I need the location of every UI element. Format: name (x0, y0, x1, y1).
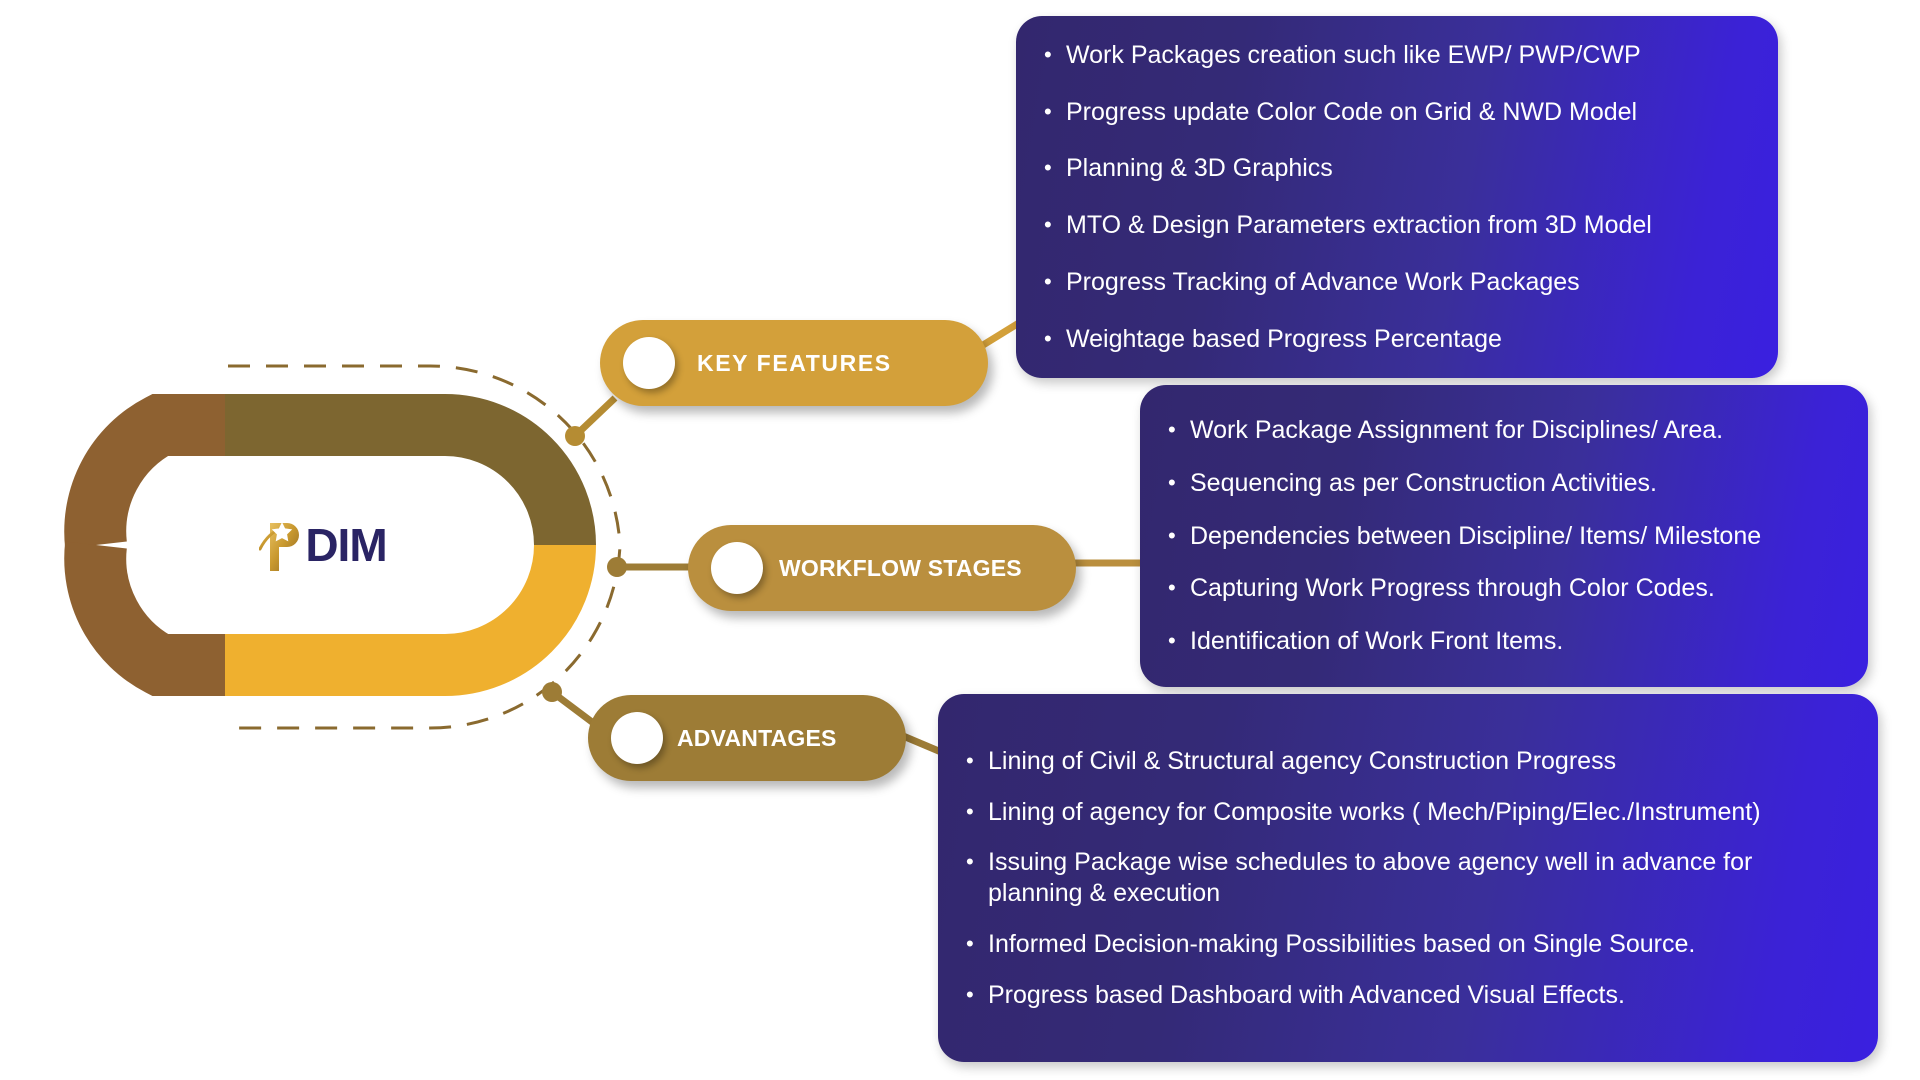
pill-bullet-icon (623, 337, 675, 389)
infographic-canvas: DIM KEY FEATURES WORKFLOW STAGES ADVANTA… (0, 0, 1920, 1080)
pill-label-key-features: KEY FEATURES (697, 350, 892, 377)
bullet-item: •MTO & Design Parameters extraction from… (1044, 210, 1752, 241)
bullet-item-text: Work Packages creation such like EWP/ PW… (1066, 40, 1641, 71)
bullet-point-icon: • (966, 797, 988, 823)
bullet-item: •Progress based Dashboard with Advanced … (966, 980, 1852, 1011)
bullet-item-text: Planning & 3D Graphics (1066, 153, 1333, 184)
bullet-item-text: Dependencies between Discipline/ Items/ … (1190, 521, 1761, 552)
bullet-item-text: Progress Tracking of Advance Work Packag… (1066, 267, 1580, 298)
bullet-item-text: MTO & Design Parameters extraction from … (1066, 210, 1652, 241)
bullet-point-icon: • (1044, 153, 1066, 179)
content-box-key-features: •Work Packages creation such like EWP/ P… (1016, 16, 1778, 378)
bullet-item-text: Work Package Assignment for Disciplines/… (1190, 415, 1723, 446)
bullet-point-icon: • (1168, 415, 1190, 441)
bullet-item: •Informed Decision-making Possibilities … (966, 929, 1852, 960)
bullet-point-icon: • (966, 929, 988, 955)
bullet-item: •Lining of Civil & Structural agency Con… (966, 746, 1852, 777)
ring-segment-top-left (95, 425, 225, 545)
bullet-item-text: Identification of Work Front Items. (1190, 626, 1563, 657)
connector-node-advantages (542, 682, 562, 702)
bullet-item: •Sequencing as per Construction Activiti… (1168, 468, 1842, 499)
bullet-point-icon: • (966, 980, 988, 1006)
branch-pill-workflow-stages[interactable]: WORKFLOW STAGES (688, 525, 1076, 611)
ring-segment-bottom-left (95, 545, 225, 665)
bullet-item-text: Informed Decision-making Possibilities b… (988, 929, 1695, 960)
bullet-point-icon: • (1168, 521, 1190, 547)
bullet-item: •Weightage based Progress Percentage (1044, 324, 1752, 355)
content-box-advantages: •Lining of Civil & Structural agency Con… (938, 694, 1878, 1062)
bullet-item-text: Sequencing as per Construction Activitie… (1190, 468, 1657, 499)
bullet-item: •Work Packages creation such like EWP/ P… (1044, 40, 1752, 71)
bullet-item-text: Weightage based Progress Percentage (1066, 324, 1502, 355)
bullet-item: •Progress Tracking of Advance Work Packa… (1044, 267, 1752, 298)
branch-pill-key-features[interactable]: KEY FEATURES (600, 320, 988, 406)
bullet-item-text: Capturing Work Progress through Color Co… (1190, 573, 1715, 604)
pill-label-workflow-stages: WORKFLOW STAGES (779, 555, 1022, 582)
bullet-point-icon: • (1168, 626, 1190, 652)
bullet-item: •Progress update Color Code on Grid & NW… (1044, 97, 1752, 128)
bullet-item: •Identification of Work Front Items. (1168, 626, 1842, 657)
connector-node-workflow-stages (607, 557, 627, 577)
bullet-point-icon: • (1044, 40, 1066, 66)
bullet-point-icon: • (1044, 267, 1066, 293)
bullet-point-icon: • (1044, 97, 1066, 123)
branch-pill-advantages[interactable]: ADVANTAGES (588, 695, 906, 781)
bullet-item-text: Progress update Color Code on Grid & NWD… (1066, 97, 1637, 128)
bullet-point-icon: • (1044, 324, 1066, 350)
bullet-item-text: Progress based Dashboard with Advanced V… (988, 980, 1625, 1011)
bullet-point-icon: • (1168, 573, 1190, 599)
bullet-point-icon: • (1168, 468, 1190, 494)
bullet-item: •Work Package Assignment for Disciplines… (1168, 415, 1842, 446)
bullet-point-icon: • (966, 847, 988, 873)
bullet-item-text: Issuing Package wise schedules to above … (988, 847, 1852, 909)
pill-bullet-icon (611, 712, 663, 764)
logo-wordmark: DIM (259, 522, 386, 568)
bullet-item: •Lining of agency for Composite works ( … (966, 797, 1852, 828)
bullet-item: •Dependencies between Discipline/ Items/… (1168, 521, 1842, 552)
bullet-item: •Planning & 3D Graphics (1044, 153, 1752, 184)
bullet-point-icon: • (966, 746, 988, 772)
pill-label-advantages: ADVANTAGES (677, 725, 837, 752)
content-box-workflow-stages: •Work Package Assignment for Disciplines… (1140, 385, 1868, 687)
logo-text: DIM (305, 519, 386, 571)
pill-bullet-icon (711, 542, 763, 594)
star-p-icon (259, 519, 305, 575)
bullet-item-text: Lining of Civil & Structural agency Cons… (988, 746, 1616, 777)
bullet-point-icon: • (1044, 210, 1066, 236)
bullet-item: •Capturing Work Progress through Color C… (1168, 573, 1842, 604)
bullet-item: •Issuing Package wise schedules to above… (966, 847, 1852, 909)
connector-node-key-features (565, 426, 585, 446)
connector-line-key-features (575, 398, 615, 436)
pdim-logo: DIM (228, 512, 418, 578)
bullet-item-text: Lining of agency for Composite works ( M… (988, 797, 1761, 828)
